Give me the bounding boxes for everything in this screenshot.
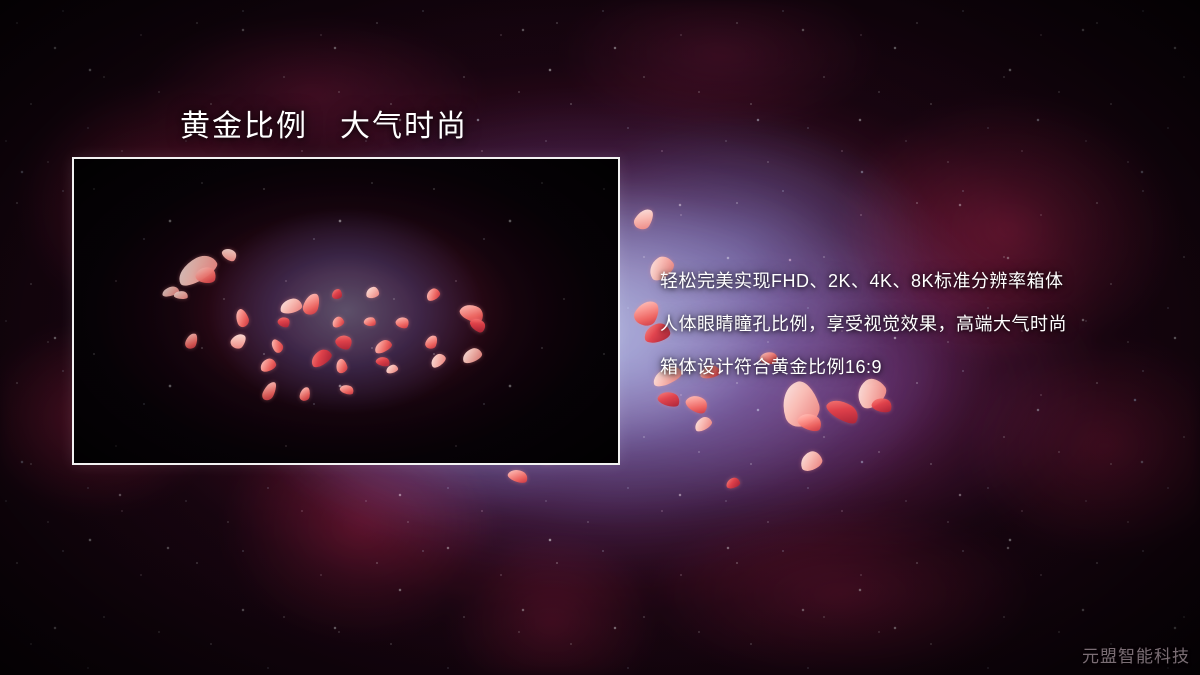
petal-shape — [631, 296, 663, 329]
body-line-2: 人体眼睛瞳孔比例，享受视觉效果，高端大气时尚 — [660, 303, 1170, 346]
body-text-block: 轻松完美实现FHD、2K、4K、8K标准分辨率箱体 人体眼睛瞳孔比例，享受视觉效… — [660, 260, 1170, 389]
petal-shape — [870, 395, 893, 414]
watermark-label: 元盟智能科技 — [1082, 642, 1190, 667]
presentation-slide: 黄金比例 大气时尚 轻松完美实现FHD、2K、4K、8K标准分辨率箱体 人体眼睛… — [0, 0, 1200, 675]
petal-shape — [798, 449, 825, 473]
body-line-1: 轻松完美实现FHD、2K、4K、8K标准分辨率箱体 — [660, 260, 1170, 303]
panel-vignette — [74, 159, 618, 463]
petal-shape — [683, 391, 710, 417]
petal-shape — [796, 410, 825, 435]
body-line-3: 箱体设计符合黄金比例16:9 — [660, 346, 1170, 389]
page-title: 黄金比例 大气时尚 — [180, 101, 468, 145]
display-preview-panel — [72, 157, 620, 465]
petal-shape — [506, 467, 529, 486]
petal-shape — [725, 476, 741, 489]
petal-shape — [632, 205, 657, 232]
petal-shape — [656, 389, 681, 410]
petal-shape — [692, 415, 713, 434]
petal-shape — [824, 394, 862, 427]
